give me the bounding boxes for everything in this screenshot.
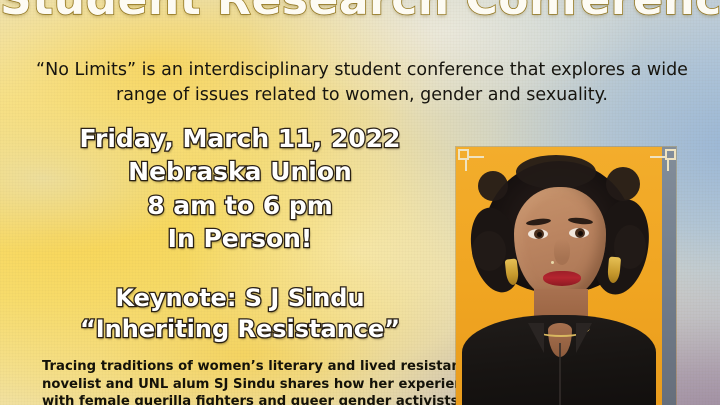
page-title: Student Research Conference bbox=[0, 0, 720, 25]
hair-curl-icon bbox=[478, 171, 508, 201]
keynote-block: Keynote: S J Sindu “Inheriting Resistanc… bbox=[36, 283, 444, 345]
hair-curl-icon bbox=[472, 231, 506, 271]
keynote-title: “Inheriting Resistance” bbox=[36, 314, 444, 345]
blurb-line: novelist and UNL alum SJ Sindu shares ho… bbox=[42, 376, 434, 394]
portrait-lips bbox=[543, 271, 581, 286]
speaker-portrait bbox=[456, 147, 676, 405]
frame-corner-top-right-icon bbox=[650, 149, 676, 171]
portrait-nose-stud bbox=[551, 261, 554, 264]
portrait-collar-left bbox=[528, 323, 544, 353]
portrait-nose bbox=[554, 239, 570, 265]
keynote-description: Tracing traditions of women’s literary a… bbox=[42, 358, 434, 405]
hair-curl-icon bbox=[516, 155, 596, 189]
event-details: Friday, March 11, 2022 Nebraska Union 8 … bbox=[40, 122, 440, 255]
blurb-line: Tracing traditions of women’s literary a… bbox=[42, 358, 434, 376]
portrait-edge-strip bbox=[662, 147, 676, 405]
blurb-line: with female guerilla fighters and queer … bbox=[42, 393, 434, 405]
event-location: Nebraska Union bbox=[40, 155, 440, 188]
event-date: Friday, March 11, 2022 bbox=[40, 122, 440, 155]
event-time: 8 am to 6 pm bbox=[40, 189, 440, 222]
portrait-eye-left bbox=[528, 229, 548, 239]
portrait-shirt-placket bbox=[559, 343, 561, 405]
event-format: In Person! bbox=[40, 222, 440, 255]
keynote-speaker: Keynote: S J Sindu bbox=[36, 283, 444, 314]
poster-subtitle: “No Limits” is an interdisciplinary stud… bbox=[30, 58, 694, 108]
conference-poster: Student Research Conference “No Limits” … bbox=[0, 0, 720, 405]
portrait-eye-right bbox=[569, 228, 589, 238]
hair-curl-icon bbox=[606, 167, 640, 201]
frame-corner-top-left-icon bbox=[458, 149, 484, 171]
poster-content: Student Research Conference “No Limits” … bbox=[0, 0, 720, 405]
portrait-collar-right bbox=[576, 323, 592, 353]
